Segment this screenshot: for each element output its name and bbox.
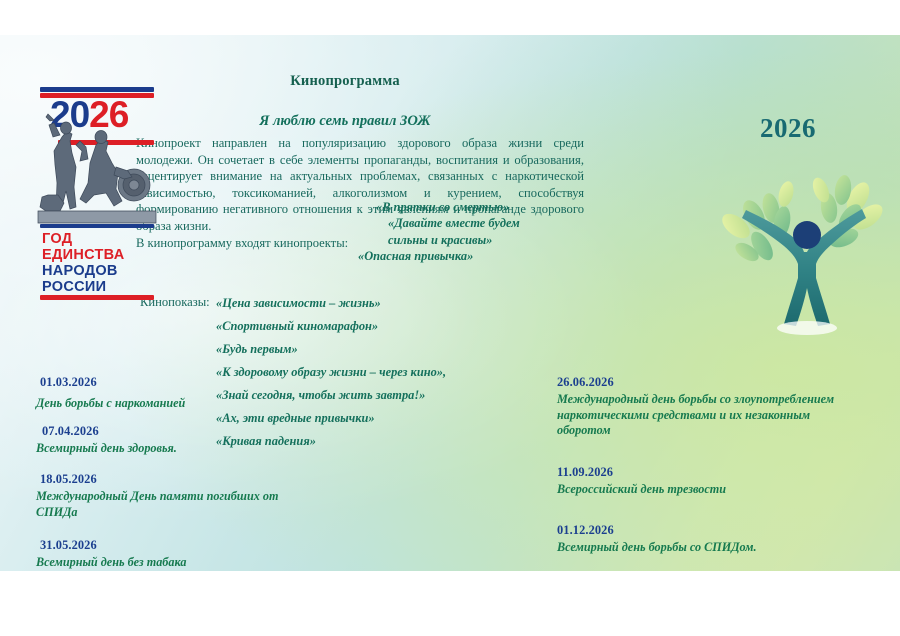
logo-blue-bar-top bbox=[40, 87, 154, 92]
dates-column-left: 01.03.2026 День борьбы с наркоманией 07.… bbox=[36, 375, 286, 571]
page-title: Кинопрограмма bbox=[135, 73, 555, 90]
monument-statue-icon bbox=[36, 111, 158, 229]
poster-page: 2026 bbox=[0, 0, 900, 636]
ground-highlight bbox=[777, 321, 837, 335]
date-entry: 18.05.2026 Международный День памяти пог… bbox=[36, 472, 286, 520]
logo-red-bar-bottom bbox=[40, 295, 154, 300]
person-head bbox=[793, 221, 821, 249]
date-entry: 11.09.2026 Всероссийский день трезвости bbox=[557, 465, 857, 498]
date-value: 07.04.2026 bbox=[42, 424, 286, 439]
date-entry: 31.05.2026 Всемирный день без табака bbox=[36, 538, 286, 571]
logo-blue-bar-under bbox=[40, 224, 154, 228]
date-entry: 01.03.2026 День борьбы с наркоманией bbox=[36, 375, 286, 412]
year-of-unity-logo: 2026 bbox=[36, 87, 158, 302]
tree-person-emblem-icon bbox=[716, 160, 896, 335]
logo-wordmark: ГОД ЕДИНСТВА НАРОДОВ РОССИИ bbox=[42, 231, 156, 295]
date-description: Всемирный день без табака bbox=[36, 555, 286, 571]
date-description: Всемирный день борьбы со СПИДом. bbox=[557, 540, 857, 556]
page-subtitle: Я люблю семь правил ЗОЖ bbox=[135, 113, 555, 130]
date-entry: 07.04.2026 Всемирный день здоровья. bbox=[36, 424, 286, 457]
project-title-item: «В прятки со смертью» bbox=[376, 199, 560, 215]
project-title-item: «Опасная привычка» bbox=[358, 248, 560, 264]
screening-item: «Спортивный киномарафон» bbox=[216, 316, 446, 339]
date-value: 01.03.2026 bbox=[40, 375, 286, 390]
project-titles-list: «В прятки со смертью» «Давайте вместе бу… bbox=[230, 199, 560, 265]
year-badge: 2026 bbox=[760, 113, 816, 144]
date-value: 26.06.2026 bbox=[557, 375, 857, 390]
date-description: День борьбы с наркоманией bbox=[36, 396, 286, 412]
screening-item: «Будь первым» bbox=[216, 339, 446, 362]
poster-canvas: 2026 bbox=[0, 35, 900, 571]
person-figure bbox=[742, 209, 866, 326]
logo-word-rossii: РОССИИ bbox=[42, 279, 156, 295]
date-entry: 01.12.2026 Всемирный день борьбы со СПИД… bbox=[557, 523, 857, 556]
logo-word-god: ГОД bbox=[42, 231, 156, 247]
logo-word-edinstva: ЕДИНСТВА bbox=[42, 247, 156, 263]
screening-item: «Цена зависимости – жизнь» bbox=[216, 293, 446, 316]
date-value: 01.12.2026 bbox=[557, 523, 857, 538]
project-title-item: «Давайте вместе будем сильны и красивы» bbox=[388, 215, 560, 248]
date-value: 11.09.2026 bbox=[557, 465, 857, 480]
date-entry: 26.06.2026 Международный день борьбы со … bbox=[557, 375, 857, 439]
dates-column-right: 26.06.2026 Международный день борьбы со … bbox=[557, 375, 857, 571]
date-value: 31.05.2026 bbox=[40, 538, 286, 553]
date-value: 18.05.2026 bbox=[40, 472, 286, 487]
date-description: Всемирный день здоровья. bbox=[36, 441, 286, 457]
logo-word-narodov: НАРОДОВ bbox=[42, 263, 156, 279]
date-description: Международный день борьбы со злоупотребл… bbox=[557, 392, 857, 439]
date-description: Всероссийский день трезвости bbox=[557, 482, 857, 498]
date-description: Международный День памяти погибших от СП… bbox=[36, 489, 286, 520]
